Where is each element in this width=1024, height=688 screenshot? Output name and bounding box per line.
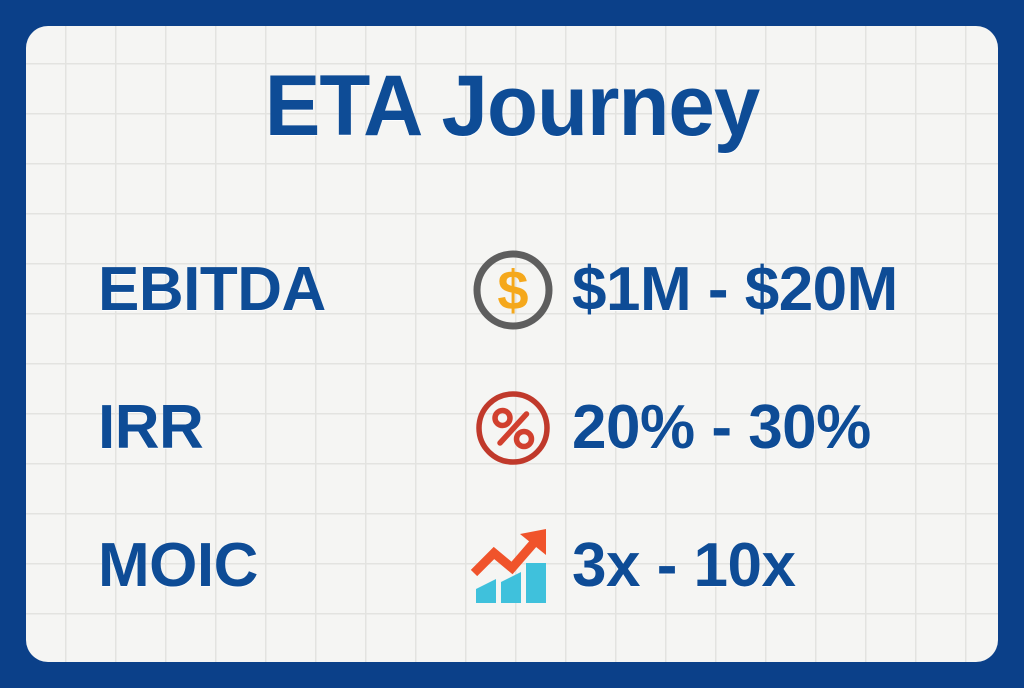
metric-value-ebitda: $1M - $20M [572,259,898,321]
metric-row-irr: IRR 20% - 30% [26,359,998,497]
svg-text:$: $ [497,259,528,322]
growth-chart-icon [463,516,563,616]
metric-row-moic: MOIC 3x - 10x [26,497,998,635]
infographic-frame: ETA Journey EBITDA $ $1M - $20M IRR [0,0,1024,688]
page-title: ETA Journey [41,56,984,156]
metric-label-moic: MOIC [98,535,258,597]
dollar-circle-icon: $ [463,240,563,340]
metric-value-moic: 3x - 10x [572,535,796,597]
metric-value-irr: 20% - 30% [572,397,871,459]
metric-label-irr: IRR [98,397,203,459]
percent-circle-icon [463,378,563,478]
metrics-list: EBITDA $ $1M - $20M IRR [26,221,998,635]
metric-row-ebitda: EBITDA $ $1M - $20M [26,221,998,359]
metric-label-ebitda: EBITDA [98,259,326,321]
infographic-card: ETA Journey EBITDA $ $1M - $20M IRR [26,26,998,662]
